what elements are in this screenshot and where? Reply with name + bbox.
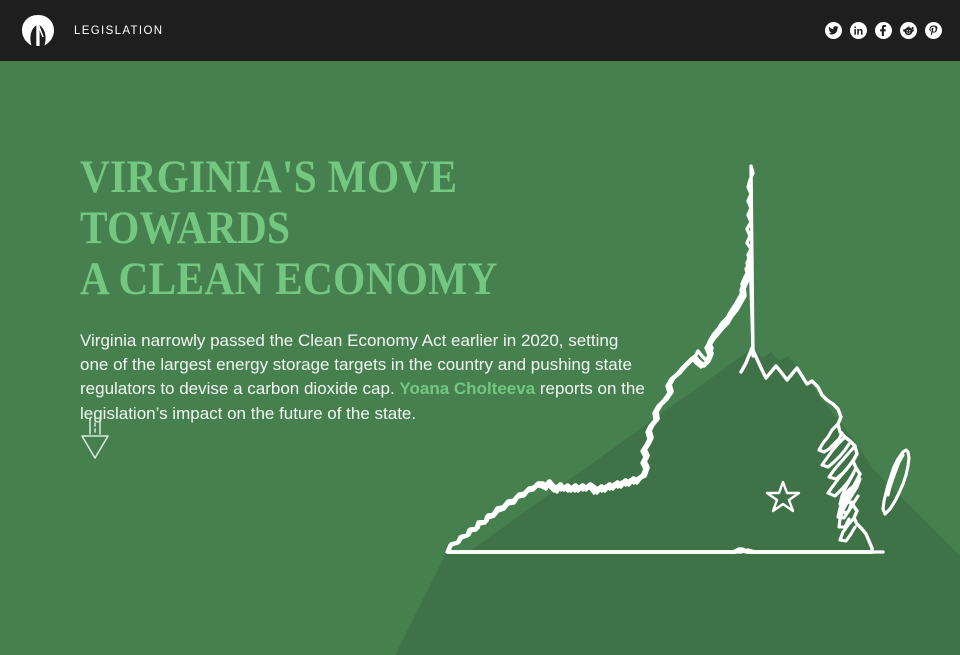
scroll-down-arrow[interactable] <box>78 417 112 461</box>
twitter-icon[interactable] <box>825 22 842 39</box>
hero-content: Virginia's Move Towards A Clean Economy … <box>80 152 680 426</box>
capital-star-marker <box>767 482 799 511</box>
facebook-icon[interactable] <box>875 22 892 39</box>
page-title: Virginia's Move Towards A Clean Economy <box>80 152 608 305</box>
category-label: LEGISLATION <box>74 25 163 37</box>
linkedin-icon[interactable] <box>850 22 867 39</box>
hero-standfirst: Virginia narrowly passed the Clean Econo… <box>80 329 650 426</box>
article-hero-page: LEGISLATION <box>0 0 960 655</box>
social-links <box>825 0 942 61</box>
author-byline[interactable]: Yoana Cholteeva <box>399 379 535 398</box>
pinterest-icon[interactable] <box>925 22 942 39</box>
wind-turbine-logo <box>18 11 58 51</box>
brand[interactable]: LEGISLATION <box>18 11 163 51</box>
reddit-icon[interactable] <box>900 22 917 39</box>
site-header: LEGISLATION <box>0 0 960 61</box>
